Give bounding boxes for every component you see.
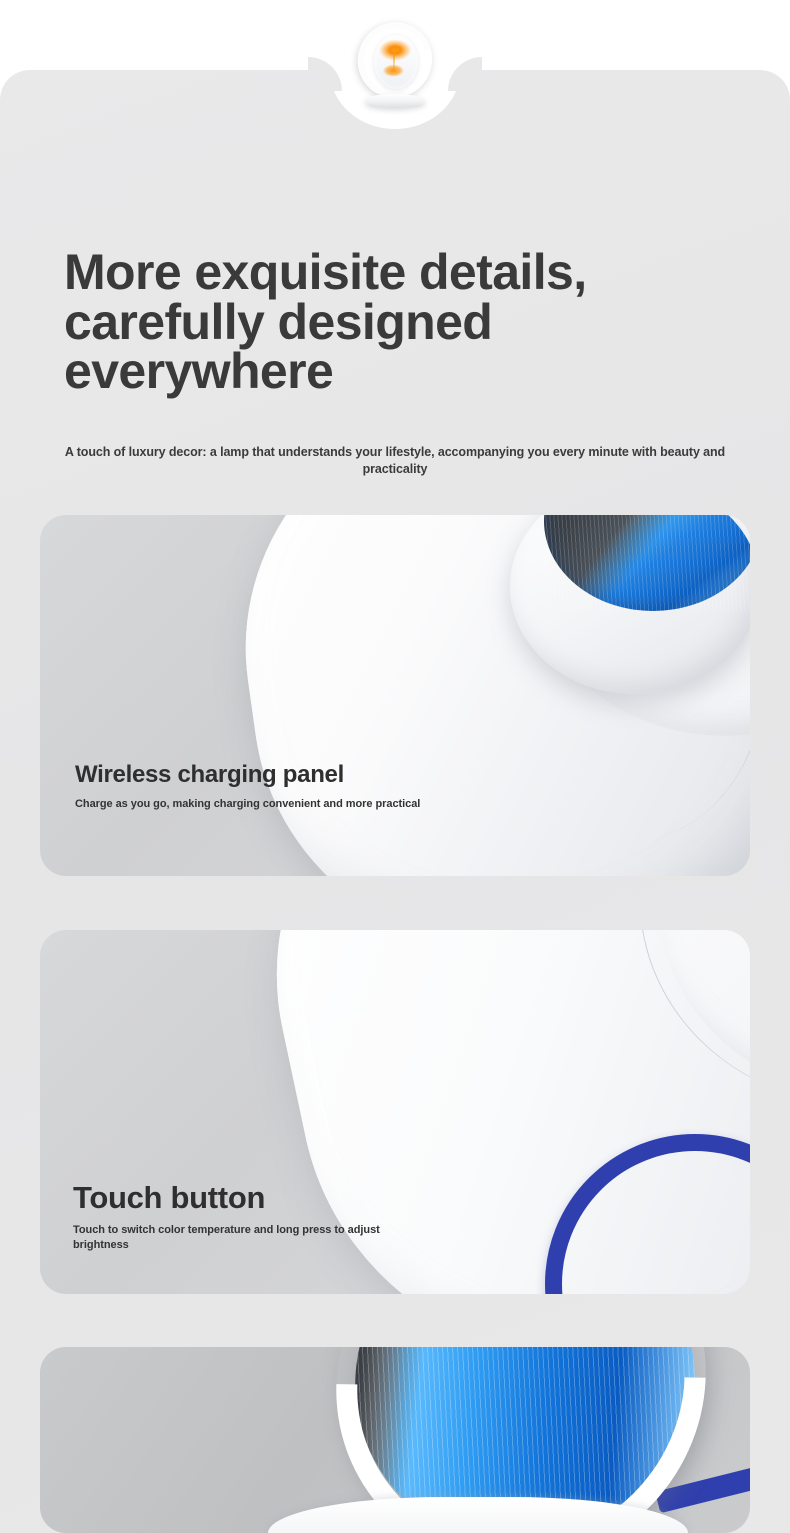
card-1-description: Charge as you go, making charging conven…: [75, 797, 435, 812]
card-1-text-block: Wireless charging panel Charge as you go…: [75, 763, 435, 811]
feature-card-touch-button: Touch button Touch to switch color tempe…: [40, 930, 750, 1294]
feature-card-lamp-arc: [40, 1347, 750, 1533]
page-headline: More exquisite details, carefully design…: [64, 248, 704, 397]
lamp-ring-icon: [352, 20, 438, 112]
card-2-text-block: Touch button Touch to switch color tempe…: [73, 1182, 403, 1252]
lamp-base-plate: [365, 94, 425, 107]
page-subheadline: A touch of luxury decor: a lamp that und…: [35, 444, 755, 478]
card-3-product-photo: [40, 1347, 750, 1533]
card-2-description: Touch to switch color temperature and lo…: [73, 1223, 403, 1252]
feature-card-wireless-charging: Wireless charging panel Charge as you go…: [40, 515, 750, 876]
card-1-product-photo: [40, 515, 750, 876]
lamp-globe: [374, 35, 418, 89]
lamp-head-blue-glow: [544, 515, 750, 611]
lamp-body-lobe: [618, 930, 750, 1143]
card-1-title: Wireless charging panel: [75, 763, 435, 788]
card-2-title: Touch button: [73, 1182, 403, 1214]
product-detail-page: More exquisite details, carefully design…: [0, 0, 790, 1533]
